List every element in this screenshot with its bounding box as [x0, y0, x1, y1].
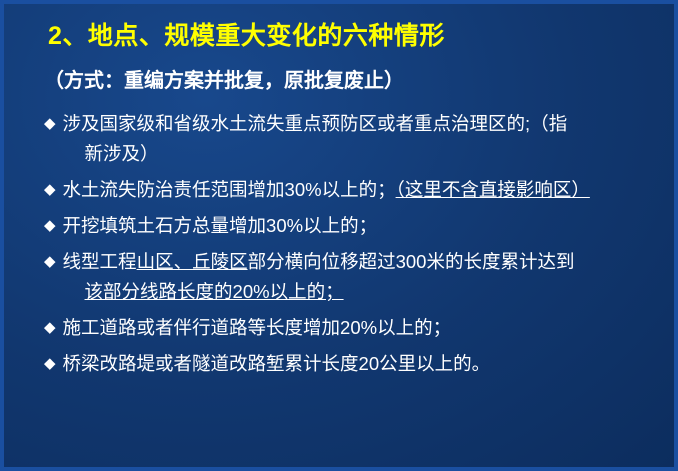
list-item-post: 部分横向位移超过300米的长度累计达到: [248, 251, 575, 272]
list-item: ◆ 桥梁改路堤或者隧道改路堑累计长度20公里以上的。: [44, 349, 666, 379]
list-item: ◆ 线型工程山区、丘陵区部分横向位移超过300米的长度累计达到 该部分线路长度的…: [44, 247, 666, 307]
bullet-list: ◆ 涉及国家级和省级水土流失重点预防区或者重点治理区的;（指 新涉及） ◆ 水土…: [44, 109, 666, 385]
diamond-bullet-icon: ◆: [44, 175, 56, 205]
list-item-text: 桥梁改路堤或者隧道改路堑累计长度20公里以上的。: [63, 349, 666, 379]
diamond-bullet-icon: ◆: [44, 247, 56, 277]
subtitle: （方式：重编方案并批复，原批复废止）: [44, 64, 404, 93]
slide-background: 2、地点、规模重大变化的六种情形 （方式：重编方案并批复，原批复废止） ◆ 涉及…: [4, 4, 674, 467]
list-item: ◆ 涉及国家级和省级水土流失重点预防区或者重点治理区的;（指 新涉及）: [44, 109, 666, 169]
diamond-bullet-icon: ◆: [44, 349, 56, 379]
list-item-pre: 线型工程: [63, 251, 137, 272]
slide: 2、地点、规模重大变化的六种情形 （方式：重编方案并批复，原批复废止） ◆ 涉及…: [0, 0, 678, 471]
list-item-text: 施工道路或者伴行道路等长度增加20%以上的；: [63, 313, 666, 343]
list-item-text: 涉及国家级和省级水土流失重点预防区或者重点治理区的;（指 新涉及）: [63, 109, 666, 169]
list-item-text: 线型工程山区、丘陵区部分横向位移超过300米的长度累计达到 该部分线路长度的20…: [63, 247, 666, 307]
diamond-bullet-icon: ◆: [44, 313, 56, 343]
list-item-text: 水土流失防治责任范围增加30%以上的；（这里不含直接影响区）: [63, 175, 666, 205]
list-item-lead: 水土流失防治责任范围增加30%以上的；: [63, 179, 396, 200]
list-item-underlined: （这里不含直接影响区）: [396, 179, 590, 200]
list-item-text: 开挖填筑土石方总量增加30%以上的；: [63, 211, 666, 241]
list-item: ◆ 施工道路或者伴行道路等长度增加20%以上的；: [44, 313, 666, 343]
list-item-line-2: 新涉及）: [63, 139, 666, 169]
list-item: ◆ 水土流失防治责任范围增加30%以上的；（这里不含直接影响区）: [44, 175, 666, 205]
list-item: ◆ 开挖填筑土石方总量增加30%以上的；: [44, 211, 666, 241]
diamond-bullet-icon: ◆: [44, 211, 56, 241]
diamond-bullet-icon: ◆: [44, 109, 56, 139]
list-item-line-1: 涉及国家级和省级水土流失重点预防区或者重点治理区的;（指: [63, 113, 568, 134]
page-title: 2、地点、规模重大变化的六种情形: [48, 16, 445, 52]
list-item-line-2: 该部分线路长度的20%以上的；: [63, 277, 666, 307]
list-item-underlined: 山区、丘陵区: [137, 251, 248, 272]
